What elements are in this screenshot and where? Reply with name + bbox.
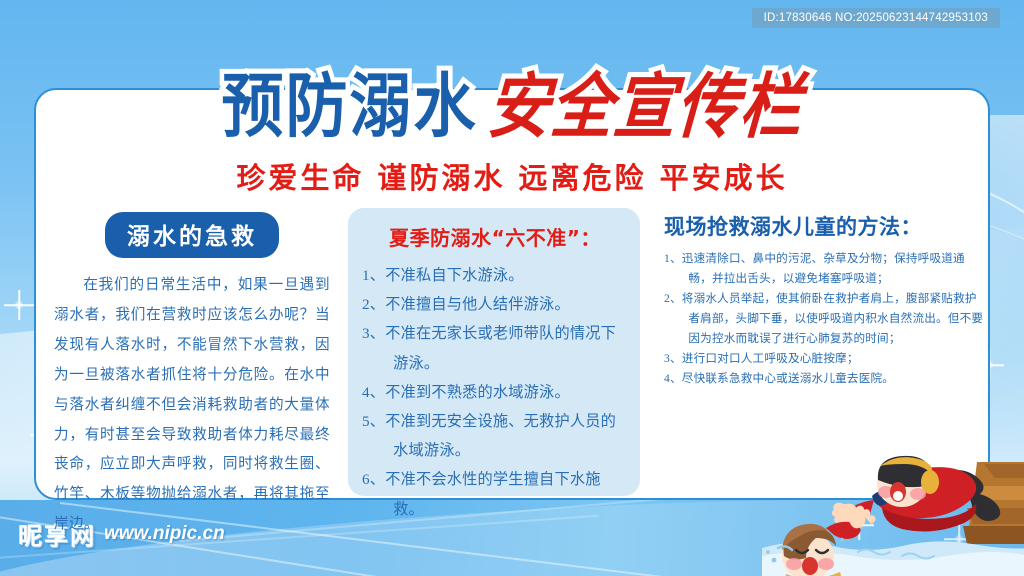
- list-item-text: 尽快联系急救中心或送溺水儿童去医院。: [682, 371, 894, 385]
- title-primary: 预防溺水: [221, 49, 477, 150]
- column-rescue-methods: 现场抢救溺水儿童的方法： 1、迅速清除口、鼻中的污泥、杂草及分物；保持呼吸道通畅…: [644, 208, 990, 496]
- list-item-text: 不准擅自与他人结伴游泳。: [385, 295, 570, 313]
- column-first-aid: 溺水的急救 在我们的日常生活中，如果一旦遇到溺水者，我们在营救时应该怎么办呢？当…: [34, 208, 344, 496]
- poster-title: 预防溺水 安全宣传栏: [0, 52, 1024, 147]
- list-item-number: 2、: [664, 292, 682, 305]
- list-item-text: 不准到无安全设施、无救护人员的水域游泳。: [385, 412, 616, 459]
- columns-container: 溺水的急救 在我们的日常生活中，如果一旦遇到溺水者，我们在营救时应该怎么办呢？当…: [34, 208, 990, 496]
- column3-header: 现场抢救溺水儿童的方法：: [664, 211, 984, 241]
- sparkle-icon: [954, 534, 964, 544]
- list-item: 4、不准到不熟悉的水域游泳。: [362, 378, 628, 407]
- list-item-text: 迅速清除口、鼻中的污泥、杂草及分物；保持呼吸道通畅，并拉出舌头，以避免堵塞呼吸道…: [682, 251, 965, 285]
- sparkle-icon: [14, 300, 24, 310]
- list-item-number: 4、: [664, 372, 682, 385]
- list-item-text: 不准私自下水游泳。: [385, 266, 524, 284]
- list-item: 4、尽快联系急救中心或送溺水儿童去医院。: [664, 369, 984, 389]
- list-item: 6、不准不会水性的学生擅自下水施救。: [362, 465, 628, 523]
- list-item-text: 不准不会水性的学生擅自下水施救。: [385, 470, 600, 517]
- column1-body: 在我们的日常生活中，如果一旦遇到溺水者，我们在营救时应该怎么办呢？当发现有人落水…: [54, 270, 330, 539]
- title-secondary: 安全宣传栏: [484, 48, 805, 151]
- column-six-prohibitions: 夏季防溺水“六不准”： 1、不准私自下水游泳。 2、不准擅自与他人结伴游泳。 3…: [344, 208, 644, 496]
- list-item: 3、进行口对口人工呼吸及心脏按摩；: [664, 349, 984, 369]
- list-item: 2、不准擅自与他人结伴游泳。: [362, 290, 628, 319]
- column2-box: 夏季防溺水“六不准”： 1、不准私自下水游泳。 2、不准擅自与他人结伴游泳。 3…: [348, 208, 640, 496]
- list-item-number: 1、: [664, 252, 682, 265]
- column1-badge: 溺水的急救: [105, 212, 279, 258]
- poster-subtitle: 珍爱生命 谨防溺水 远离危险 平安成长: [0, 155, 1024, 197]
- list-item-number: 3、: [664, 352, 682, 365]
- sparkle-icon: [854, 520, 864, 530]
- list-item-number: 4、: [362, 384, 385, 401]
- list-item: 1、迅速清除口、鼻中的污泥、杂草及分物；保持呼吸道通畅，并拉出舌头，以避免堵塞呼…: [664, 249, 984, 289]
- list-item-number: 5、: [362, 413, 385, 430]
- list-item-number: 2、: [362, 296, 385, 313]
- list-item: 1、不准私自下水游泳。: [362, 261, 628, 290]
- list-item: 5、不准到无安全设施、无救护人员的水域游泳。: [362, 407, 628, 465]
- list-item: 3、不准在无家长或老师带队的情况下游泳。: [362, 319, 628, 377]
- list-item-number: 3、: [362, 325, 385, 342]
- list-item-text: 不准到不熟悉的水域游泳。: [385, 383, 570, 401]
- list-item-number: 1、: [362, 267, 385, 284]
- list-item-text: 不准在无家长或老师带队的情况下游泳。: [385, 324, 616, 371]
- list-item-text: 将溺水人员举起，使其俯卧在救护者肩上，腹部紧贴救护者肩部，头脚下垂，以使呼吸道内…: [682, 291, 983, 345]
- column2-header: 夏季防溺水“六不准”：: [362, 222, 628, 251]
- column2-list: 1、不准私自下水游泳。 2、不准擅自与他人结伴游泳。 3、不准在无家长或老师带队…: [362, 261, 628, 524]
- list-item: 2、将溺水人员举起，使其俯卧在救护者肩上，腹部紧贴救护者肩部，头脚下垂，以使呼吸…: [664, 289, 984, 349]
- column3-list: 1、迅速清除口、鼻中的污泥、杂草及分物；保持呼吸道通畅，并拉出舌头，以避免堵塞呼…: [660, 249, 984, 389]
- list-item-text: 进行口对口人工呼吸及心脏按摩；: [682, 351, 859, 365]
- image-id-tag: ID:17830646 NO:20250623144742953103: [752, 8, 1000, 28]
- list-item-number: 6、: [362, 471, 385, 488]
